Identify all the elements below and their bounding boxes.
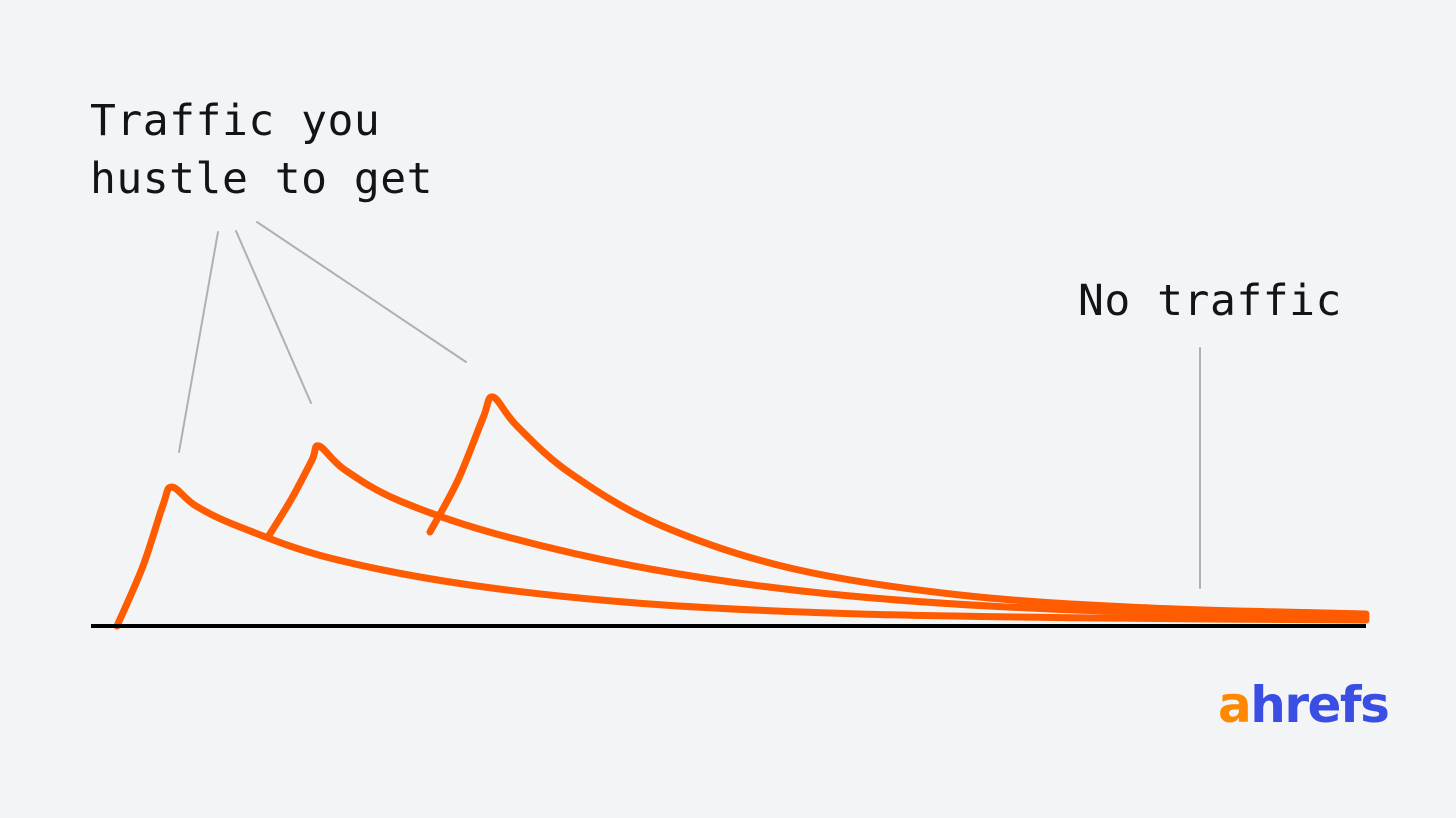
leader-line-2 (236, 231, 311, 403)
leader-line-1 (179, 232, 218, 452)
label-traffic-you-hustle-to-get: spike-1Traffic youhustle to get (90, 92, 433, 208)
logo-letter-a: a (1218, 676, 1250, 734)
traffic-spike-curves (117, 397, 1366, 626)
curve-spike-3 (430, 397, 1366, 614)
illustration-canvas: spike-1Traffic youhustle to get No traff… (0, 0, 1456, 818)
logo-letters-hrefs: hrefs (1250, 676, 1388, 734)
leader-lines-traffic (179, 222, 466, 452)
traffic-label-line-1: Traffic you (90, 96, 380, 146)
leader-line-3 (257, 222, 466, 362)
ahrefs-logo: ahrefs (1218, 680, 1388, 730)
label-no-traffic: No traffic (1078, 272, 1342, 330)
traffic-label-line-2: hustle to get (90, 154, 433, 204)
